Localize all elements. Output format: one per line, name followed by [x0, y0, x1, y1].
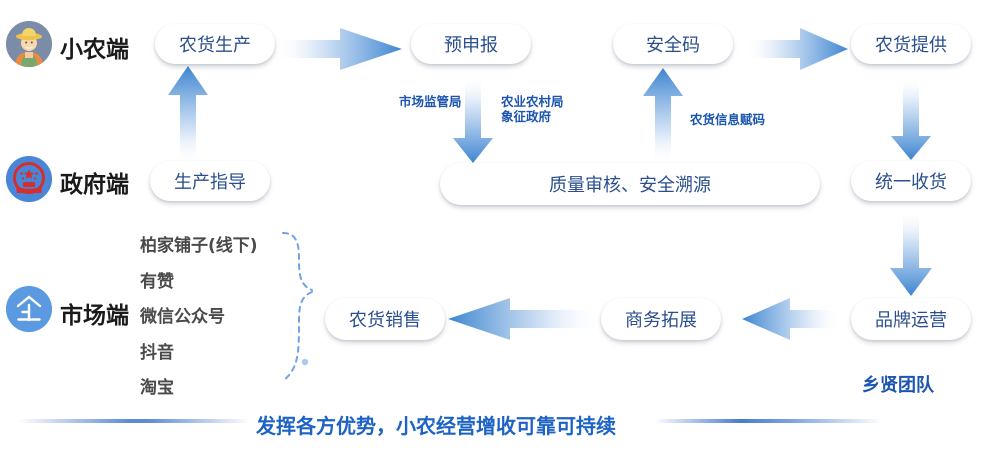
arrow-supply-to-collect — [891, 76, 931, 160]
node-anquan-ma[interactable]: 安全码 — [613, 24, 733, 64]
role-label-farmer: 小农端 — [60, 30, 129, 64]
annotation-nonghuo-fuma: 农货信息赋码 — [690, 112, 765, 127]
brace-dot-decoration — [302, 359, 308, 365]
role-label-market: 市场端 — [60, 296, 129, 330]
node-nongHuo-shengchan[interactable]: 农货生产 — [155, 24, 275, 64]
annotation-shichang-jianguanju: 市场监管局 — [399, 94, 462, 109]
flow-diagram-canvas: 小农端 政府端 市场端 农货生产 预申报 安全码 — [0, 0, 998, 450]
node-tongyi-shouhuo[interactable]: 统一收货 — [851, 161, 971, 201]
node-shangwu-tuozhan[interactable]: 商务拓展 — [601, 298, 721, 340]
footer-divider-left — [18, 419, 250, 423]
arrow-production-to-declare — [275, 28, 402, 70]
channel-item-4: 淘宝 — [140, 373, 174, 398]
role-icon-farmer — [6, 21, 52, 67]
role-icon-government — [6, 156, 52, 202]
node-pinpai-yunying[interactable]: 品牌运营 — [851, 298, 971, 340]
node-nongHuo-tigong[interactable]: 农货提供 — [851, 24, 971, 64]
national-emblem-icon — [6, 156, 52, 202]
arrow-declare-to-audit — [453, 76, 493, 163]
channel-item-2: 微信公众号 — [140, 302, 225, 327]
footer-slogan: 发挥各方优势，小农经营增收可靠可持续 — [256, 410, 616, 439]
team-label-xiangxian: 乡贤团队 — [862, 371, 934, 397]
farmer-avatar-icon — [6, 21, 52, 67]
node-nongHuo-xiaoshou[interactable]: 农货销售 — [325, 298, 445, 340]
arrow-collect-to-brand — [890, 210, 932, 296]
node-yu-shenbao[interactable]: 预申报 — [411, 24, 531, 64]
footer-divider-right — [654, 419, 882, 423]
arrow-audit-to-safecode — [643, 68, 683, 165]
channel-item-3: 抖音 — [140, 338, 174, 363]
node-shengchan-zhidao[interactable]: 生产指导 — [150, 161, 270, 201]
role-icon-market — [6, 286, 52, 332]
arrow-brand-to-business — [742, 298, 840, 340]
channel-brace-dashed — [283, 233, 312, 381]
channel-item-0: 柏家铺子(线下) — [140, 231, 258, 256]
annotation-nongye-nongcunju: 农业农村局 象征政府 — [501, 94, 564, 124]
arrow-business-to-sales — [448, 298, 600, 340]
arrow-guidance-to-production — [168, 66, 208, 165]
enterprise-qi-icon — [6, 286, 52, 332]
node-zhiliang-shenhe[interactable]: 质量审核、安全溯源 — [440, 163, 820, 205]
channel-item-1: 有赞 — [140, 267, 174, 292]
arrow-safecode-to-supply — [745, 28, 848, 70]
role-label-government: 政府端 — [60, 165, 129, 199]
